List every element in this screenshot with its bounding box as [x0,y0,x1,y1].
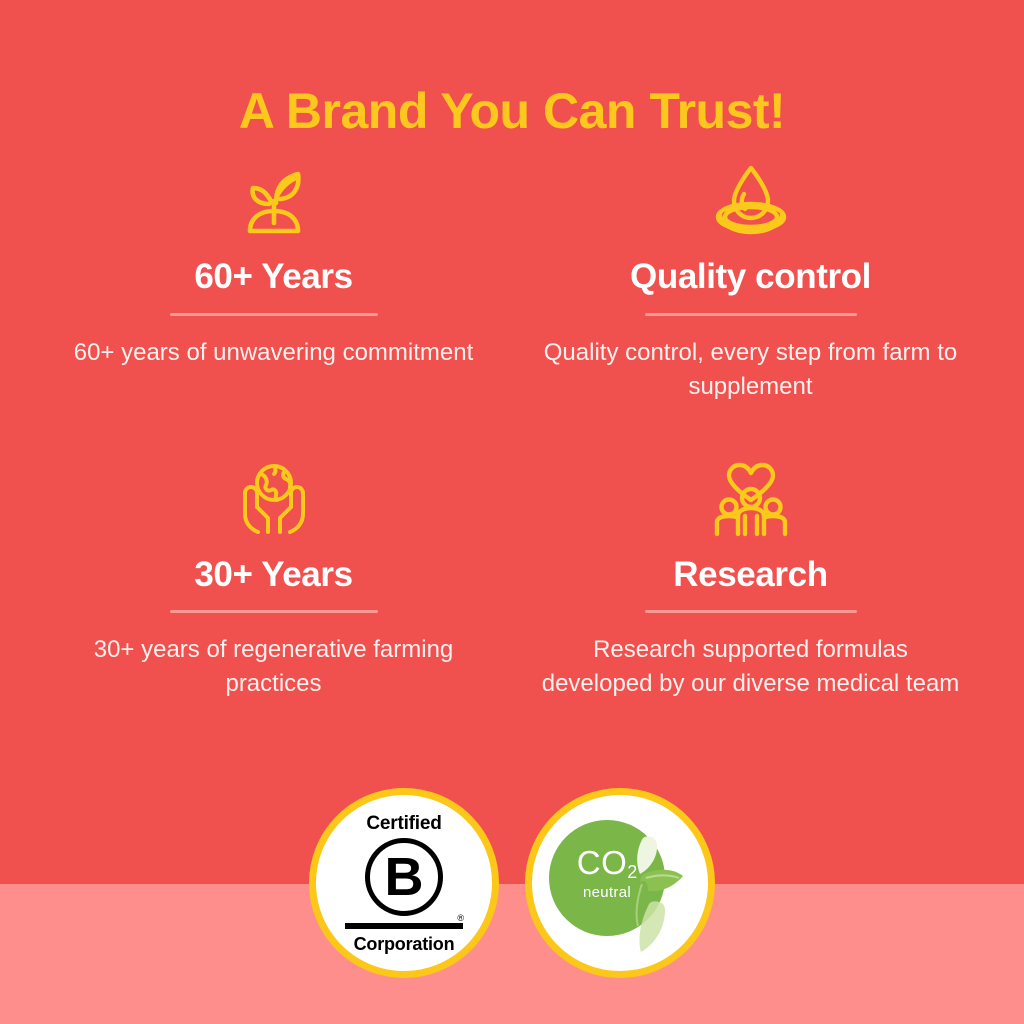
co2-subscript: 2 [627,862,637,882]
feature-title: Research [673,556,827,595]
feature-grid: 60+ Years 60+ years of unwavering commit… [40,158,984,701]
feature-divider [645,313,857,316]
feature-title: 30+ Years [194,556,352,595]
feature-body: 60+ years of unwavering commitment [74,336,474,370]
page-title: A Brand You Can Trust! [0,86,1024,136]
feature-card-research: Research Research supported formulas dev… [517,456,984,702]
co2-neutral-label: neutral [555,885,659,900]
certification-badges: Certified B ® Corporation [0,788,1024,978]
co2-text-block: CO2 neutral [555,846,659,900]
feature-body: Research supported formulas developed by… [541,633,961,701]
bcorp-certified-label: Certified [366,814,441,833]
bcorp-corporation-label: Corporation [354,935,455,953]
bcorp-letter-b: B [365,838,443,916]
feature-title: Quality control [630,258,871,297]
registered-trademark-icon: ® [457,914,464,923]
feature-divider [645,610,857,613]
heart-family-icon [705,456,797,542]
feature-divider [170,313,378,316]
feature-card-quality-control: Quality control Quality control, every s… [517,158,984,404]
feature-card-30-years: 30+ Years 30+ years of regenerative farm… [40,456,507,702]
feature-body: 30+ years of regenerative farming practi… [64,633,484,701]
globe-in-hands-icon [228,456,320,542]
bcorp-rule-row: ® [345,923,463,929]
water-droplet-icon [705,158,797,244]
bcorp-horizontal-rule [345,923,463,929]
feature-divider [170,610,378,613]
sprout-icon [228,158,320,244]
feature-card-60-years: 60+ Years 60+ years of unwavering commit… [40,158,507,404]
feature-title: 60+ Years [194,258,352,297]
certified-b-corporation-badge: Certified B ® Corporation [309,788,499,978]
feature-body: Quality control, every step from farm to… [541,336,961,404]
co2-main-text: CO [577,844,628,881]
co2-neutral-badge: CO2 neutral [525,788,715,978]
poster-canvas: A Brand You Can Trust! 60+ Years 60+ yea… [0,0,1024,1024]
